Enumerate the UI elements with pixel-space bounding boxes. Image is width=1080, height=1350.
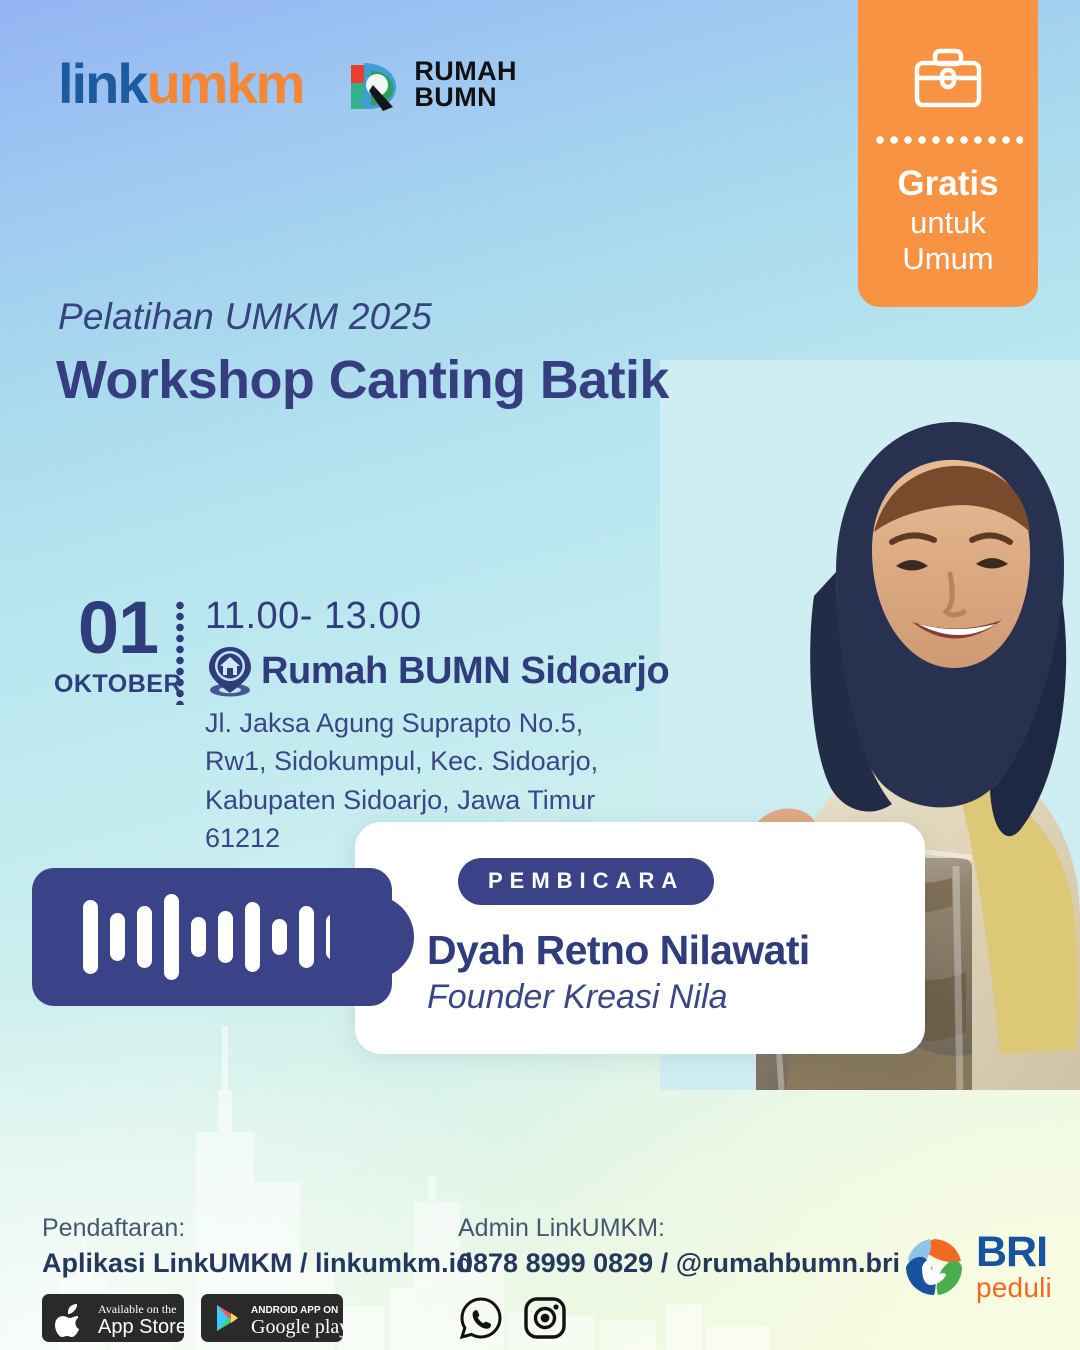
gratis-badge: Gratis untuk Umum	[858, 0, 1038, 307]
linkumkm-logo-link: link	[58, 52, 146, 115]
event-time: 11.00- 13.00	[205, 597, 669, 635]
event-day: 01	[48, 595, 188, 662]
whatsapp-icon[interactable]	[458, 1295, 504, 1341]
registration-label: Pendaftaran:	[42, 1213, 473, 1244]
waveform-bar	[83, 900, 98, 974]
waveform-bar	[272, 919, 287, 955]
waveform-bar	[164, 894, 179, 980]
registration-block: Pendaftaran: Aplikasi LinkUMKM / linkumk…	[42, 1213, 473, 1342]
google-play-big: Google play	[251, 1316, 343, 1338]
event-month: OKTOBER	[48, 670, 188, 699]
event-kicker: Pelatihan UMKM 2025	[58, 296, 432, 338]
event-details: 11.00- 13.00 Rumah BUMN Sidoarjo Jl. Jak…	[205, 597, 669, 857]
badge-line1: Gratis	[897, 164, 998, 205]
app-store-big: App Store	[98, 1316, 184, 1338]
waveform-nub	[330, 895, 414, 979]
waveform-bar	[299, 906, 314, 968]
event-venue: Rumah BUMN Sidoarjo	[261, 650, 669, 693]
page-title: Workshop Canting Batik	[56, 349, 669, 411]
event-date: 01 OKTOBER	[48, 595, 188, 699]
bri-peduli-logo: BRI peduli	[900, 1232, 1052, 1301]
waveform-bar	[137, 906, 152, 968]
badge-divider-dots	[873, 136, 1023, 144]
speaker-role: Founder Kreasi Nila	[427, 978, 727, 1017]
linkumkm-logo-umkm: umkm	[146, 52, 303, 115]
google-play-badge[interactable]: ANDROID APP ON Google play	[201, 1294, 343, 1342]
peduli-text: peduli	[976, 1275, 1052, 1302]
google-play-small: ANDROID APP ON	[251, 1305, 338, 1316]
waveform-bar	[191, 917, 206, 957]
briefcase-icon	[912, 46, 984, 110]
admin-block: Admin LinkUMKM: 0878 8999 0829 / @rumahb…	[458, 1213, 900, 1341]
speaker-badge: PEMBICARA	[458, 858, 714, 905]
rumah-bumn-mark-icon	[347, 55, 403, 113]
admin-value: 0878 8999 0829 / @rumahbumn.bri	[458, 1247, 900, 1281]
instagram-icon[interactable]	[522, 1295, 568, 1341]
linkumkm-logo: linkumkm	[58, 56, 303, 112]
app-store-small: Available on the	[98, 1302, 176, 1316]
rumah-bumn-logo: RUMAH BUMN	[347, 55, 517, 113]
waveform-bar	[245, 902, 260, 972]
speaker-name: Dyah Retno Nilawati	[427, 927, 810, 974]
waveform-bar	[218, 911, 233, 963]
rumah-bumn-line1: RUMAH	[414, 58, 517, 84]
bri-text: BRI	[976, 1232, 1052, 1273]
badge-line3: Umum	[897, 241, 998, 277]
speaker-card: PEMBICARA Dyah Retno Nilawati Founder Kr…	[355, 822, 925, 1054]
badge-text: Gratis untuk Umum	[897, 164, 998, 277]
location-pin-icon	[205, 644, 255, 698]
admin-label: Admin LinkUMKM:	[458, 1213, 900, 1244]
bri-peduli-emblem-icon	[900, 1233, 968, 1301]
badge-line2: untuk	[897, 205, 998, 241]
header-logos: linkumkm RUMAH BUMN	[58, 55, 517, 113]
waveform-bar	[110, 913, 125, 961]
poster-canvas: linkumkm RUMAH BUMN	[0, 0, 1080, 1350]
registration-value: Aplikasi LinkUMKM / linkumkm.id	[42, 1247, 473, 1281]
rumah-bumn-line2: BUMN	[414, 84, 517, 110]
app-store-badge[interactable]: Available on the App Store	[42, 1294, 184, 1342]
vertical-dotted-divider	[174, 600, 186, 705]
